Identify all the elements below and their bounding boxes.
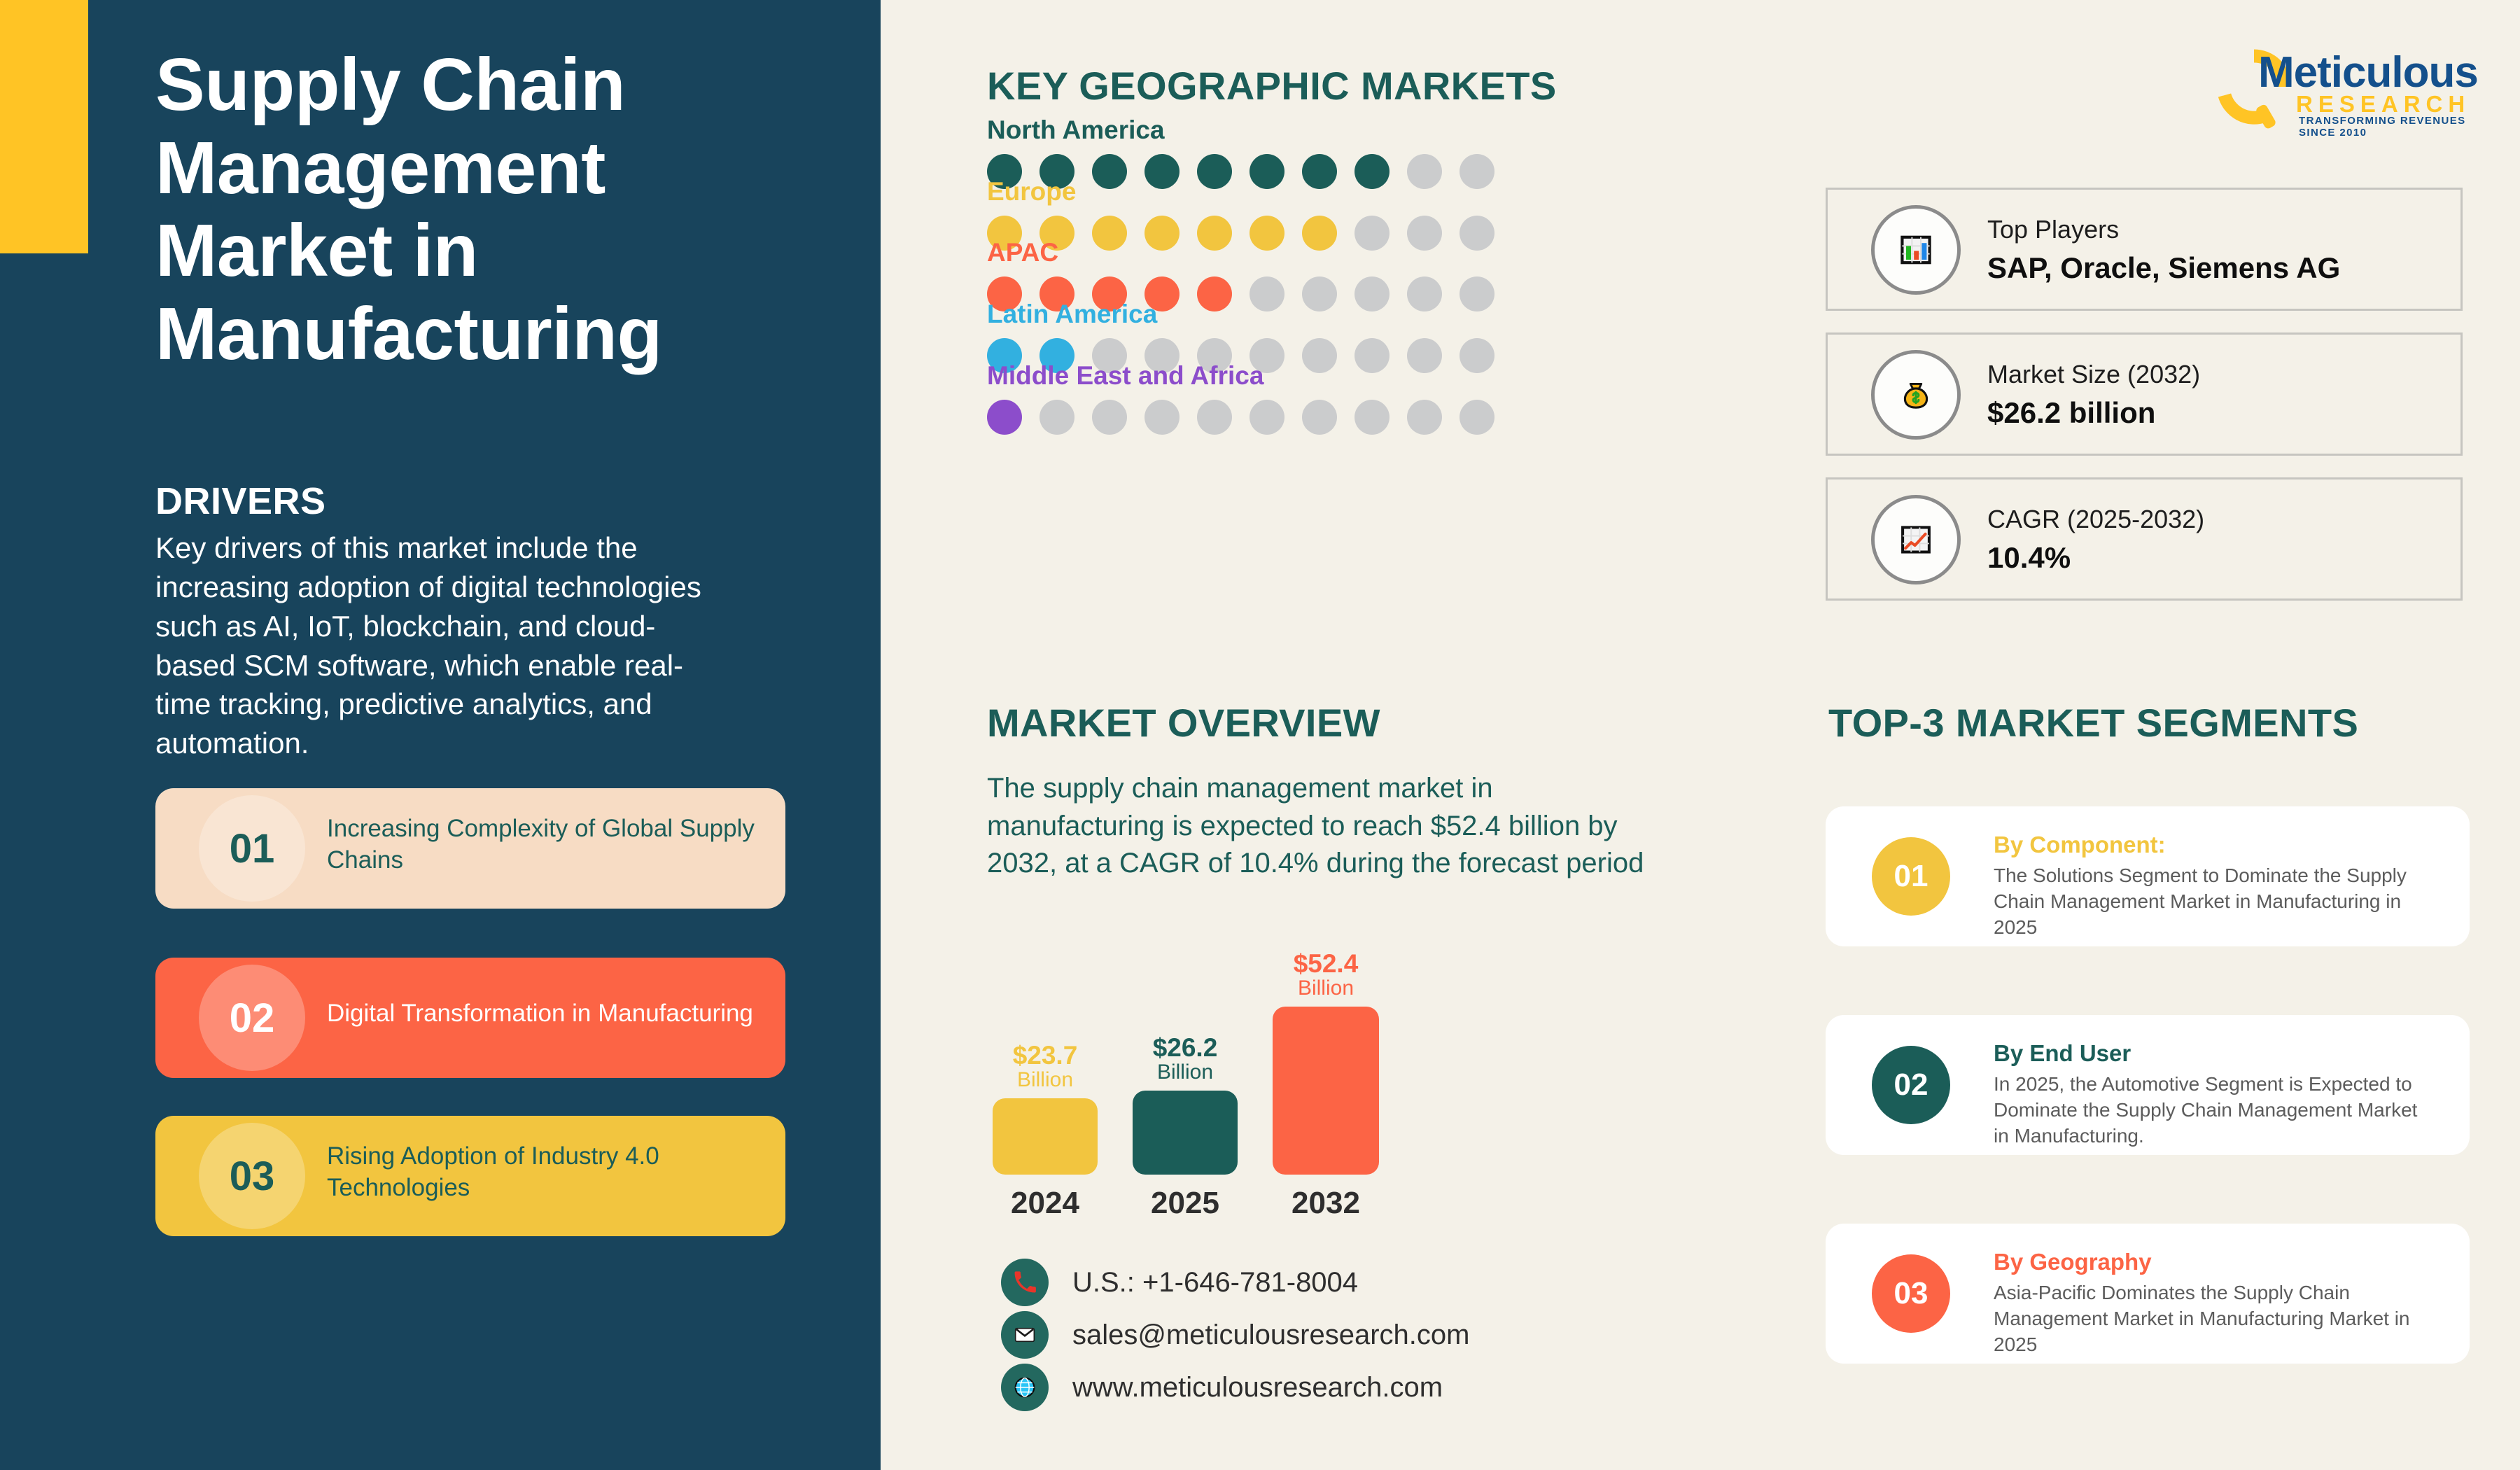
geo-dot-empty	[1197, 400, 1232, 435]
geo-dot-empty	[1092, 400, 1127, 435]
bar-group: $52.4Billion	[1273, 951, 1379, 1175]
driver-card-2[interactable]: 02 Digital Transformation in Manufacturi…	[155, 958, 785, 1078]
contact-row[interactable]: sales@meticulousresearch.com	[1001, 1311, 1469, 1359]
bar-category-label: 2025	[1133, 1186, 1238, 1221]
globe-icon	[1001, 1364, 1049, 1411]
metric-label: CAGR (2025-2032)	[1987, 505, 2204, 534]
bar-value-label: $23.7	[993, 1042, 1098, 1068]
metric-value: $26.2 billion	[1987, 396, 2155, 430]
drivers-description: Key drivers of this market include the i…	[155, 528, 722, 763]
contact-text: www.meticulousresearch.com	[1072, 1372, 1443, 1403]
geo-region-label: APAC	[987, 238, 1494, 267]
contact-text: sales@meticulousresearch.com	[1072, 1319, 1469, 1351]
geo-dot-empty	[1459, 400, 1494, 435]
metric-card[interactable]: CAGR (2025-2032)10.4%	[1826, 477, 2463, 601]
geo-dot-empty	[1302, 400, 1337, 435]
segment-description: In 2025, the Automotive Segment is Expec…	[1994, 1071, 2431, 1149]
bar-category-label: 2024	[993, 1186, 1098, 1221]
bar-value-label: $26.2	[1133, 1035, 1238, 1060]
driver-number: 02	[199, 965, 305, 1071]
logo-wordmark: Meticulous	[2258, 48, 2478, 97]
segment-card[interactable]: 02By End User In 2025, the Automotive Se…	[1826, 1015, 2470, 1155]
geo-region-label: North America	[987, 115, 1494, 145]
bar-unit-label: Billion	[1273, 976, 1379, 1000]
contact-row[interactable]: www.meticulousresearch.com	[1001, 1364, 1443, 1411]
geo-dot-empty	[1144, 400, 1179, 435]
bar-group: $23.7Billion	[993, 1042, 1098, 1175]
geo-dot-filled	[987, 400, 1022, 435]
segment-description: The Solutions Segment to Dominate the Su…	[1994, 862, 2431, 941]
metric-value: 10.4%	[1987, 541, 2071, 575]
segment-title: By Component:	[1994, 832, 2166, 858]
page-title: Supply Chain Management Market in Manufa…	[155, 43, 848, 376]
driver-label: Digital Transformation in Manufacturing	[327, 998, 761, 1030]
segment-card[interactable]: 03By GeographyAsia-Pacific Dominates the…	[1826, 1224, 2470, 1364]
bar-unit-label: Billion	[1133, 1060, 1238, 1084]
segment-title: By End User	[1994, 1040, 2131, 1067]
logo-tagline: TRANSFORMING REVENUES SINCE 2010	[2299, 115, 2477, 139]
market-overview-text: The supply chain management market in ma…	[987, 770, 1669, 883]
drivers-heading: DRIVERS	[155, 479, 326, 523]
metric-label: Top Players	[1987, 215, 2119, 244]
driver-number: 03	[199, 1123, 305, 1229]
bar-unit-label: Billion	[993, 1068, 1098, 1091]
metric-card[interactable]: Top PlayersSAP, Oracle, Siemens AG	[1826, 188, 2463, 311]
contact-text: U.S.: +1-646-781-8004	[1072, 1267, 1358, 1298]
market-overview-title: MARKET OVERVIEW	[987, 700, 1380, 745]
geo-region-label: Latin America	[987, 300, 1494, 329]
metric-value: SAP, Oracle, Siemens AG	[1987, 251, 2340, 285]
geo-region-label: Middle East and Africa	[987, 361, 1494, 391]
segment-card[interactable]: 01By Component:The Solutions Segment to …	[1826, 806, 2470, 946]
driver-label: Increasing Complexity of Global Supply C…	[327, 813, 761, 876]
segment-description: Asia-Pacific Dominates the Supply Chain …	[1994, 1280, 2431, 1358]
driver-label: Rising Adoption of Industry 4.0 Technolo…	[327, 1141, 761, 1204]
bar	[1273, 1007, 1379, 1175]
bar-group: $26.2Billion	[1133, 1035, 1238, 1175]
metric-card[interactable]: Market Size (2032)$26.2 billion	[1826, 332, 2463, 456]
meticulous-research-logo[interactable]: Meticulous RESEARCH TRANSFORMING REVENUE…	[2212, 41, 2477, 125]
segment-number-badge: 02	[1872, 1046, 1950, 1124]
geo-dot-empty	[1354, 400, 1389, 435]
driver-number: 01	[199, 795, 305, 902]
logo-subwordmark: RESEARCH	[2296, 91, 2470, 118]
bar-chart-icon	[1871, 205, 1961, 295]
market-size-bar-chart: $23.7Billion2024$26.2Billion2025$52.4Bil…	[987, 938, 1421, 1232]
chart-increasing-icon	[1871, 495, 1961, 584]
bar-value-label: $52.4	[1273, 951, 1379, 976]
bar-category-label: 2032	[1273, 1186, 1379, 1221]
geographic-markets-title: KEY GEOGRAPHIC MARKETS	[987, 63, 1557, 108]
driver-card-1[interactable]: 01 Increasing Complexity of Global Suppl…	[155, 788, 785, 909]
infographic-root: Supply Chain Management Market in Manufa…	[0, 0, 2520, 1470]
segment-number-badge: 01	[1872, 837, 1950, 916]
yellow-accent-bar	[0, 0, 88, 253]
email-icon	[1001, 1311, 1049, 1359]
geo-region-row: Middle East and Africa	[987, 361, 1494, 435]
driver-card-3[interactable]: 03 Rising Adoption of Industry 4.0 Techn…	[155, 1116, 785, 1236]
money-bag-icon	[1871, 350, 1961, 440]
geo-dot-empty	[1407, 400, 1442, 435]
geo-region-label: Europe	[987, 177, 1494, 206]
bar	[993, 1098, 1098, 1175]
geo-dot-row	[987, 400, 1494, 435]
contact-row[interactable]: U.S.: +1-646-781-8004	[1001, 1259, 1358, 1306]
bar	[1133, 1091, 1238, 1175]
segment-number-badge: 03	[1872, 1254, 1950, 1333]
geo-dot-empty	[1039, 400, 1074, 435]
phone-icon	[1001, 1259, 1049, 1306]
top-segments-title: TOP-3 MARKET SEGMENTS	[1828, 700, 2358, 745]
segment-title: By Geography	[1994, 1249, 2152, 1275]
metric-label: Market Size (2032)	[1987, 360, 2200, 389]
geo-dot-empty	[1249, 400, 1284, 435]
